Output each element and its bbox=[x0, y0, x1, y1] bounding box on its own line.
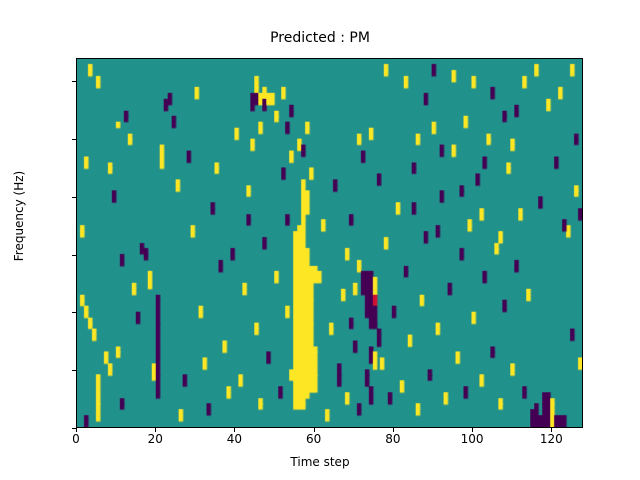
x-tick-label: 0 bbox=[36, 433, 116, 445]
heatmap-axes bbox=[76, 58, 583, 428]
heatmap-canvas bbox=[77, 59, 582, 427]
y-tick-mark bbox=[72, 81, 76, 82]
y-tick-mark bbox=[72, 312, 76, 313]
x-tick-mark bbox=[155, 428, 156, 432]
x-tick-label: 20 bbox=[115, 433, 195, 445]
x-tick-label: 40 bbox=[194, 433, 274, 445]
y-tick-mark bbox=[72, 370, 76, 371]
x-tick-mark bbox=[76, 428, 77, 432]
x-tick-label: 100 bbox=[432, 433, 512, 445]
y-tick-mark bbox=[72, 197, 76, 198]
x-tick-mark bbox=[234, 428, 235, 432]
y-tick-mark bbox=[72, 139, 76, 140]
x-tick-mark bbox=[472, 428, 473, 432]
x-tick-mark bbox=[551, 428, 552, 432]
x-tick-label: 80 bbox=[353, 433, 433, 445]
chart-title: Predicted : PM bbox=[0, 30, 640, 46]
matplotlib-figure: Predicted : PM Frequency (Hz) Time step … bbox=[0, 0, 640, 480]
x-tick-label: 60 bbox=[274, 433, 354, 445]
x-tick-mark bbox=[314, 428, 315, 432]
x-axis-label: Time step bbox=[0, 455, 640, 469]
y-axis-label: Frequency (Hz) bbox=[12, 66, 26, 366]
x-tick-mark bbox=[393, 428, 394, 432]
x-tick-label: 120 bbox=[511, 433, 591, 445]
y-tick-mark bbox=[72, 255, 76, 256]
